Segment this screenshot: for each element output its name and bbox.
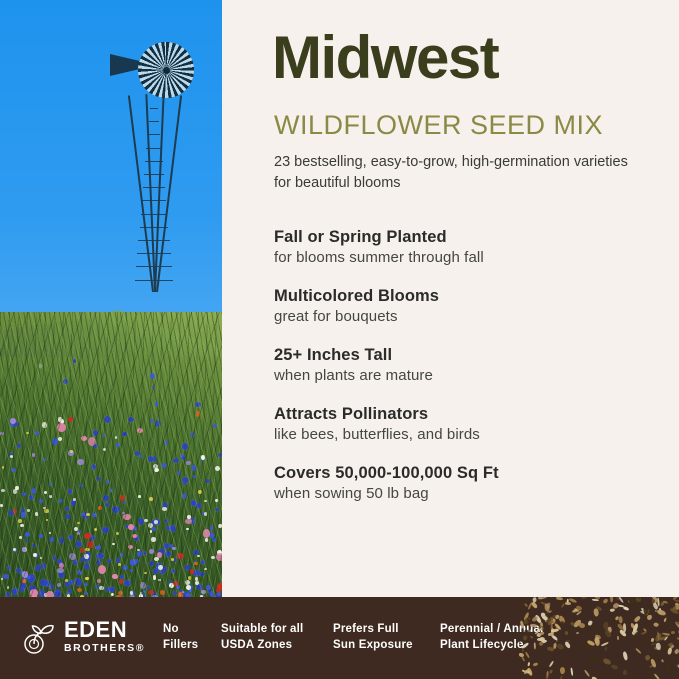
seed (593, 636, 601, 644)
flower (151, 537, 156, 541)
flower (57, 423, 65, 432)
flower (190, 569, 194, 574)
seed (643, 628, 647, 633)
flower (212, 538, 216, 542)
flower (138, 518, 144, 525)
flower (17, 443, 21, 448)
seed (632, 623, 638, 632)
seed (649, 663, 655, 668)
flower (182, 591, 185, 593)
flower (81, 513, 84, 516)
seed (519, 653, 525, 657)
flower (86, 513, 90, 517)
flower (42, 422, 47, 427)
footer-item-line2: Fillers (163, 638, 198, 654)
flower (52, 438, 58, 444)
seed (596, 605, 603, 611)
seed (591, 617, 594, 620)
flower (140, 582, 146, 589)
seed (523, 612, 529, 621)
seed (579, 623, 585, 628)
footer-item-line2: Sun Exposure (333, 638, 413, 654)
flower (148, 456, 153, 462)
seed (656, 642, 663, 650)
flower (110, 489, 113, 492)
flower (39, 534, 43, 538)
flower (128, 417, 134, 422)
flower (153, 464, 158, 469)
flower (106, 480, 110, 483)
torn-soil-edge (0, 597, 679, 604)
flower (173, 581, 179, 586)
flower (3, 574, 9, 579)
seed (549, 669, 553, 674)
flower (91, 464, 96, 471)
seed (556, 640, 559, 643)
footer-item-line2: USDA Zones (221, 638, 303, 654)
feature-item: Covers 50,000-100,000 Sq Ftwhen sowing 5… (274, 464, 674, 502)
brand-subname: BROTHERS® (64, 641, 145, 655)
footer-item-no-fillers: NoFillers (163, 622, 198, 653)
flower (75, 541, 82, 547)
flower (68, 417, 73, 422)
page-title: Midwest (272, 28, 498, 88)
seed (654, 647, 661, 651)
product-subtitle: WILDFLOWER SEED MIX (274, 112, 603, 139)
flower (63, 379, 67, 383)
flower (87, 541, 94, 548)
feature-title: Attracts Pollinators (274, 405, 674, 424)
flower (22, 571, 28, 577)
flower (84, 592, 88, 595)
seed (640, 607, 648, 615)
flower (191, 465, 197, 471)
flower (57, 583, 61, 587)
seed (666, 664, 671, 673)
seed (609, 618, 616, 624)
flower (182, 443, 188, 450)
tower-rung (145, 161, 162, 162)
seed (676, 663, 679, 667)
flower (12, 588, 18, 595)
seed (646, 615, 652, 621)
seed (553, 642, 557, 648)
seed (641, 631, 647, 635)
flower (205, 479, 210, 484)
seed (622, 623, 626, 632)
footer-item-line2: Plant Lifecycle (440, 638, 544, 654)
brand-logo[interactable]: EDEN BROTHERS® (22, 619, 132, 657)
flower (215, 499, 218, 502)
brand-name: EDEN (64, 619, 145, 641)
flower (186, 461, 190, 464)
flower (186, 585, 191, 590)
flower (77, 522, 80, 524)
flower (155, 402, 158, 406)
seed (665, 634, 670, 639)
seed (644, 609, 650, 616)
seed (674, 648, 679, 654)
seed (654, 633, 662, 643)
seed (651, 642, 656, 646)
flower (99, 586, 104, 591)
flower (138, 495, 142, 498)
seed (649, 658, 656, 667)
seed (570, 621, 575, 626)
flower (81, 436, 87, 441)
flower (84, 533, 91, 539)
flower (158, 565, 163, 570)
seed (642, 608, 648, 616)
flower (19, 588, 24, 592)
flower (137, 551, 143, 557)
seed (657, 609, 666, 616)
seed (520, 606, 523, 611)
seed (553, 615, 560, 620)
flower (42, 458, 46, 461)
flower (73, 359, 77, 362)
windmill-tower (108, 94, 198, 292)
seed (557, 643, 565, 650)
flower (196, 411, 200, 416)
seed (589, 655, 598, 664)
feature-title: Covers 50,000-100,000 Sq Ft (274, 464, 674, 483)
flower (65, 507, 69, 511)
feature-subtitle: for blooms summer through fall (274, 249, 674, 266)
flower (88, 437, 96, 446)
seed (590, 625, 597, 632)
seed (622, 670, 627, 676)
flower (162, 507, 167, 511)
feature-subtitle: when plants are mature (274, 367, 674, 384)
tower-rung (141, 214, 168, 215)
footer-item-line1: Prefers Full (333, 622, 413, 638)
footer-item-lifecycle: Perennial / AnnualPlant Lifecycle (440, 622, 544, 653)
seed (554, 622, 561, 629)
flower (49, 537, 54, 542)
flower (180, 454, 183, 457)
seed (559, 675, 563, 679)
flower (18, 519, 22, 523)
tower-rung (140, 227, 169, 228)
feature-list: Fall or Spring Plantedfor blooms summer … (274, 228, 674, 523)
windmill-icon (108, 42, 198, 292)
flower (84, 563, 90, 570)
seed (664, 633, 670, 641)
meadow-photo (0, 0, 222, 612)
seed (619, 629, 627, 637)
flower (204, 512, 207, 515)
seed (659, 636, 666, 641)
flower (65, 514, 71, 520)
flower (215, 466, 220, 471)
seed (528, 662, 531, 666)
seed (545, 618, 551, 623)
flower (0, 504, 3, 507)
feature-title: Fall or Spring Planted (274, 228, 674, 247)
flower (0, 432, 3, 435)
seed (663, 644, 672, 651)
seed (521, 656, 525, 661)
tower-rung (138, 240, 169, 241)
flower (97, 545, 101, 549)
footer-band: EDEN BROTHERS® NoFillers Suitable for al… (0, 597, 679, 679)
seed (588, 644, 594, 651)
flower (209, 591, 214, 596)
seed (545, 612, 550, 618)
flower (11, 468, 16, 472)
flower (157, 552, 162, 557)
seed (654, 610, 656, 612)
seed (611, 664, 619, 670)
seed (546, 675, 549, 679)
flower (153, 575, 157, 579)
seed (522, 669, 530, 673)
feature-item: Fall or Spring Plantedfor blooms summer … (274, 228, 674, 266)
seed (594, 634, 601, 639)
flower (122, 432, 127, 437)
seed (540, 612, 549, 622)
flower (103, 448, 106, 451)
seed (653, 622, 659, 628)
flower (112, 506, 119, 513)
flower (205, 538, 208, 541)
seed (572, 608, 580, 614)
flower (58, 417, 63, 421)
flower (31, 488, 36, 494)
flower (164, 519, 169, 523)
flower (97, 579, 101, 583)
seed (618, 605, 624, 607)
seed (617, 623, 625, 631)
flower (120, 553, 123, 556)
seed (597, 656, 601, 662)
seed (662, 632, 670, 635)
seed (601, 641, 610, 647)
feature-subtitle: great for bouquets (274, 308, 674, 325)
seed (555, 615, 560, 620)
seed (631, 629, 639, 637)
flower (109, 587, 115, 592)
seed (651, 637, 656, 642)
seed (576, 632, 579, 635)
seed (617, 647, 622, 650)
seed (576, 611, 582, 617)
flower (199, 572, 204, 576)
seed (561, 620, 564, 624)
seed (656, 631, 660, 640)
tower-rung (150, 108, 158, 109)
seed (675, 621, 679, 628)
flower (20, 524, 24, 528)
flower (160, 571, 164, 575)
flower (132, 534, 136, 538)
seed (622, 607, 629, 612)
flower (188, 576, 191, 580)
footer-item-line1: No (163, 622, 198, 638)
tower-rung (137, 253, 170, 254)
seed (549, 618, 556, 625)
tower-rung (143, 187, 165, 188)
seed (617, 636, 619, 640)
seed (519, 663, 527, 670)
seed (675, 605, 679, 610)
flower (190, 433, 194, 437)
flower (1, 489, 5, 492)
seed (654, 673, 661, 679)
seed (582, 641, 591, 649)
flower (69, 553, 75, 560)
seed (622, 651, 628, 661)
flower (149, 497, 153, 501)
seed (604, 629, 613, 639)
flower (77, 459, 83, 465)
windmill-wheel (138, 42, 194, 98)
seed (671, 608, 676, 612)
feature-subtitle: when sowing 50 lb bag (274, 485, 674, 502)
flower (130, 569, 134, 572)
seed (551, 634, 558, 641)
feature-item: Multicolored Bloomsgreat for bouquets (274, 287, 674, 325)
flower (192, 475, 196, 478)
flower (185, 519, 191, 524)
seed (557, 615, 566, 624)
seed (603, 658, 612, 666)
seed (610, 609, 615, 612)
flower (44, 491, 47, 494)
flower (93, 430, 98, 435)
flower (73, 560, 78, 565)
flower (124, 580, 130, 586)
flower (187, 515, 192, 519)
tower-rung (148, 134, 161, 135)
seed (573, 608, 578, 612)
seed (579, 644, 583, 648)
seed (661, 659, 664, 663)
flower (22, 579, 25, 583)
seed (565, 631, 569, 635)
flower (5, 592, 9, 597)
seed (551, 628, 559, 633)
flower (218, 453, 222, 457)
seed (551, 628, 554, 637)
flower (85, 548, 89, 551)
seed (586, 639, 594, 646)
flower (142, 551, 147, 555)
flower (32, 453, 36, 457)
flower (7, 586, 9, 589)
flower (96, 553, 103, 559)
footer-item-line1: Perennial / Annual (440, 622, 544, 638)
tower-rung (146, 148, 161, 149)
seed (631, 623, 635, 628)
seed (533, 663, 538, 667)
flower (201, 590, 205, 594)
flower (116, 443, 120, 446)
seed (550, 620, 554, 624)
flower (123, 501, 127, 504)
seed (547, 616, 554, 626)
seed (643, 654, 650, 661)
flower (103, 434, 106, 437)
content-panel: Midwest WILDFLOWER SEED MIX 23 bestselli… (222, 0, 679, 612)
seed (547, 646, 555, 652)
flower (194, 562, 197, 565)
seed (615, 616, 619, 620)
flower (19, 536, 22, 539)
tower-rung (149, 121, 160, 122)
flower (103, 495, 108, 500)
flower (160, 590, 165, 594)
flower (123, 514, 131, 521)
seed (526, 668, 533, 677)
seed (658, 607, 662, 614)
footer-item-line1: Suitable for all (221, 622, 303, 638)
seed (667, 647, 672, 655)
seed (557, 664, 562, 668)
tower-rung (135, 280, 173, 281)
seed (605, 647, 608, 651)
flower (33, 553, 37, 557)
seed (594, 637, 601, 647)
flower (22, 547, 26, 551)
flower (59, 537, 65, 544)
flower (22, 492, 26, 496)
product-blurb: 23 bestselling, easy-to-grow, high-germi… (274, 152, 644, 194)
feature-item: Attracts Pollinatorslike bees, butterfli… (274, 405, 674, 443)
flower (206, 585, 211, 590)
flower (182, 493, 187, 499)
seed (663, 617, 667, 622)
flower (111, 593, 114, 596)
flower (152, 527, 156, 530)
footer-item-usda-zones: Suitable for allUSDA Zones (221, 622, 303, 653)
flower (165, 551, 171, 556)
seed (570, 668, 573, 676)
seed (564, 641, 572, 649)
flower (39, 499, 43, 503)
flower (68, 535, 73, 540)
seed (666, 621, 674, 629)
seed (548, 632, 552, 636)
seed (672, 604, 679, 611)
seed (546, 618, 552, 623)
product-infographic: Midwest WILDFLOWER SEED MIX 23 bestselli… (0, 0, 679, 679)
flower (164, 441, 167, 445)
flower (171, 558, 174, 561)
seed (633, 630, 641, 640)
seed (636, 648, 642, 654)
seed (548, 661, 553, 668)
footer-item-sun-exposure: Prefers FullSun Exposure (333, 622, 413, 653)
seed (542, 611, 546, 615)
seed (573, 619, 583, 629)
flower (118, 591, 123, 595)
flower (52, 556, 56, 561)
seed (546, 610, 553, 615)
flower (46, 519, 48, 521)
seed (640, 610, 648, 615)
flower (49, 495, 52, 498)
tower-rung (136, 266, 172, 267)
seed (670, 643, 675, 648)
flower (84, 583, 88, 587)
flower (73, 498, 75, 501)
seed (603, 622, 609, 630)
seed (587, 620, 593, 626)
flower (137, 549, 140, 551)
seed (651, 653, 658, 660)
